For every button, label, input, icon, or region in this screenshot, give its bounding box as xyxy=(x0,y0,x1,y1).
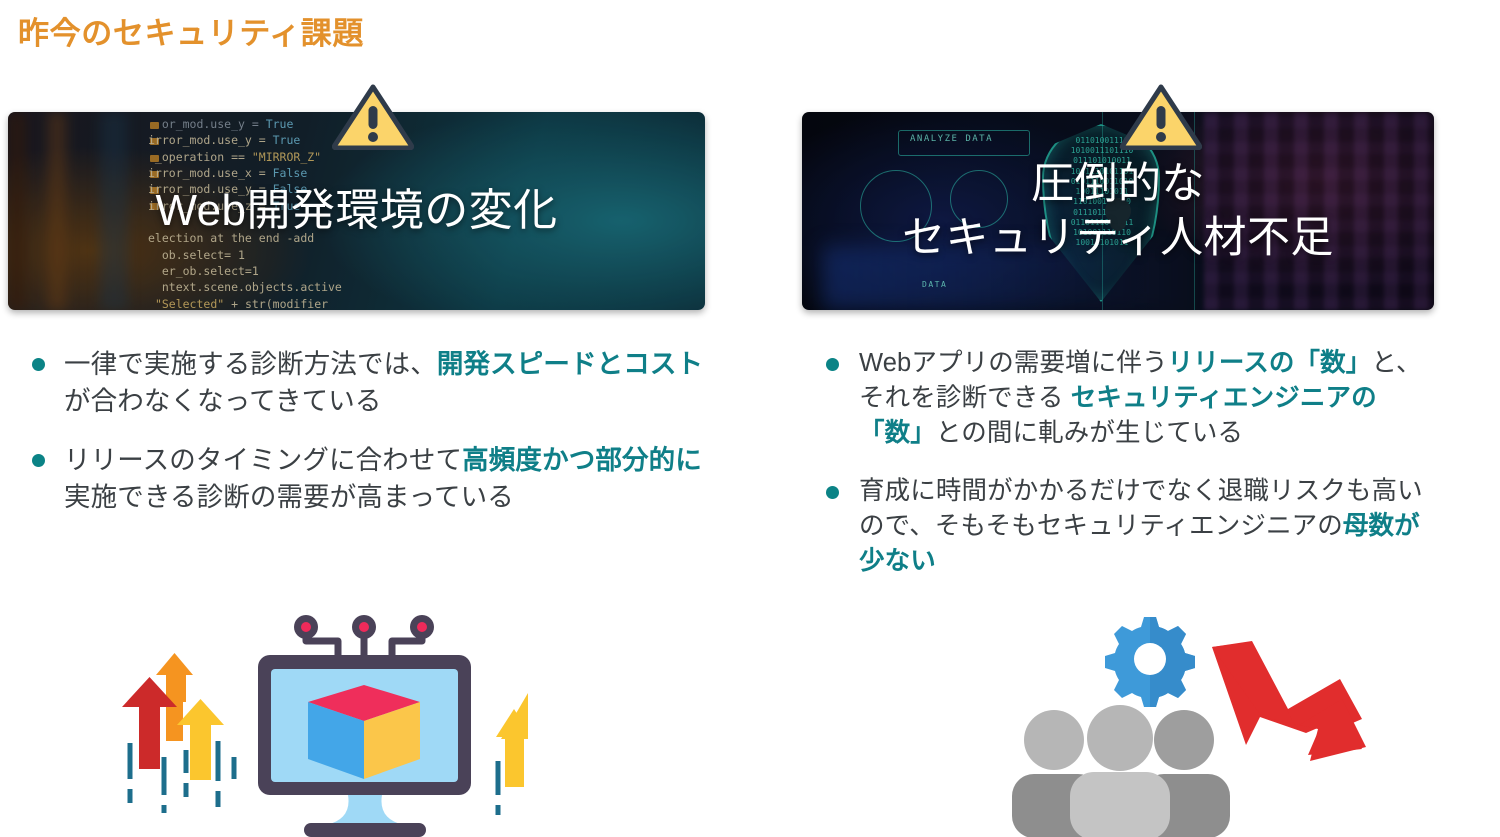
warning-triangle-icon xyxy=(1120,84,1202,150)
bullet-segment-highlight: 高頻度かつ部分的に xyxy=(462,445,702,475)
people-group-icon xyxy=(1012,705,1230,837)
bullet-text: 一律で実施する診断方法では、開発スピードとコストが合わなくなってきている xyxy=(64,346,705,420)
hero-heading-line-1: 圧倒的な xyxy=(1031,157,1205,211)
warning-triangle-icon xyxy=(332,84,414,150)
column-right: ANALYZE DATA DATA 01101001110 1010011101… xyxy=(802,112,1434,601)
bullet-segment: との間に軋みが生じている xyxy=(936,419,1243,447)
people-gear-decline-illustration xyxy=(950,597,1370,837)
page-title: 昨今のセキュリティ課題 xyxy=(18,8,364,53)
list-item: 一律で実施する診断方法では、開発スピードとコストが合わなくなってきている xyxy=(8,346,705,420)
bullet-list-right: Webアプリの需要増に伴うリリースの「数」と、それを診断できる セキュリティエン… xyxy=(802,346,1434,579)
bullet-segment: リリースのタイミングに合わせて xyxy=(64,445,462,475)
bullet-dot-icon xyxy=(826,486,839,499)
bullet-segment: 実施できる診断の需要が高まっている xyxy=(64,482,514,512)
cube-graphic xyxy=(308,685,420,779)
bullet-text: Webアプリの需要増に伴うリリースの「数」と、それを診断できる セキュリティエン… xyxy=(859,346,1434,452)
decline-arrow-icon xyxy=(1212,641,1366,761)
hero-heading-right: 圧倒的な セキュリティ人材不足 xyxy=(802,112,1434,310)
list-item: 育成に時間がかかるだけでなく退職リスクも高いので、そもそもセキュリティエンジニア… xyxy=(802,474,1434,580)
bullet-text: リリースのタイミングに合わせて高頻度かつ部分的に実施できる診断の需要が高まってい… xyxy=(64,442,705,516)
bullet-segment-highlight: リリースの「数」 xyxy=(1168,349,1372,377)
bullet-segment: Webアプリの需要増に伴う xyxy=(859,349,1168,377)
bullet-list-left: 一律で実施する診断方法では、開発スピードとコストが合わなくなってきている リリー… xyxy=(8,346,705,516)
bullet-segment: が合わなくなってきている xyxy=(64,386,381,416)
hero-card-right: ANALYZE DATA DATA 01101001110 1010011101… xyxy=(802,112,1434,310)
bullet-text: 育成に時間がかかるだけでなく退職リスクも高いので、そもそもセキュリティエンジニア… xyxy=(859,474,1434,580)
list-item: Webアプリの需要増に伴うリリースの「数」と、それを診断できる セキュリティエン… xyxy=(802,346,1434,452)
node-dots xyxy=(294,615,434,639)
growth-arrows-left xyxy=(122,653,234,813)
list-item: リリースのタイミングに合わせて高頻度かつ部分的に実施できる診断の需要が高まってい… xyxy=(8,442,705,516)
hero-heading-line-2: セキュリティ人材不足 xyxy=(902,211,1334,265)
bullet-segment-highlight: 開発スピードとコスト xyxy=(437,349,703,379)
bullet-segment: 育成に時間がかかるだけでなく退職リスクも高いので、そもそもセキュリティエンジニア… xyxy=(859,477,1423,540)
slide-root: 昨今のセキュリティ課題 or_mod.use_y = True irror_mo… xyxy=(0,0,1500,837)
bullet-segment: 一律で実施する診断方法では、 xyxy=(64,349,437,379)
gear-icon xyxy=(1105,617,1195,707)
growth-arrows-right xyxy=(496,693,528,815)
monitor-cube-growth-illustration xyxy=(108,597,528,837)
bullet-dot-icon xyxy=(32,358,45,371)
bullet-dot-icon xyxy=(826,358,839,371)
column-left: or_mod.use_y = True irror_mod.use_y = Tr… xyxy=(8,112,705,538)
bullet-dot-icon xyxy=(32,454,45,467)
